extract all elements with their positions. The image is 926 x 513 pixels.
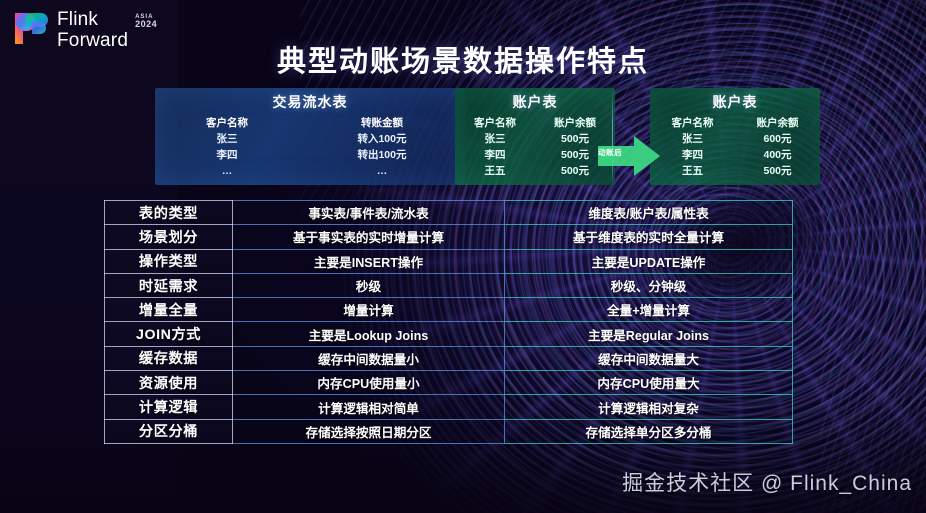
table-row: 操作类型 主要是INSERT操作 主要是UPDATE操作: [105, 249, 793, 273]
table-row: 分区分桶 存储选择按照日期分区 存储选择单分区多分桶: [105, 419, 793, 443]
row-left-value: 缓存中间数据量小: [233, 346, 505, 370]
row-label: 时延需求: [105, 273, 233, 297]
cell-customer: 张三: [650, 131, 735, 147]
table-row: 缓存数据 缓存中间数据量小 缓存中间数据量大: [105, 346, 793, 370]
cell-customer: 李四: [650, 147, 735, 163]
row-right-value: 计算逻辑相对复杂: [505, 395, 793, 419]
table-header-row: 客户名称 转账金额: [155, 115, 465, 131]
cell-amount: 转入100元: [299, 131, 465, 147]
table-row: 资源使用 内存CPU使用量小 内存CPU使用量大: [105, 371, 793, 395]
table-row: 场景划分 基于事实表的实时增量计算 基于维度表的实时全量计算: [105, 225, 793, 249]
column-header-customer: 客户名称: [650, 115, 735, 131]
row-left-value: 主要是Lookup Joins: [233, 322, 505, 346]
table-row: 李四 400元: [650, 147, 820, 163]
row-label: 表的类型: [105, 201, 233, 225]
cell-amount: 转出100元: [299, 147, 465, 163]
row-left-value: 内存CPU使用量小: [233, 371, 505, 395]
column-header-balance: 账户余额: [535, 115, 615, 131]
slide-canvas: Flink Forward ASIA 2024 典型动账场景数据操作特点 交易流…: [0, 0, 926, 513]
cell-balance: 600元: [735, 131, 820, 147]
cell-balance: 500元: [735, 163, 820, 179]
row-right-value: 主要是Regular Joins: [505, 322, 793, 346]
row-label: 计算逻辑: [105, 395, 233, 419]
row-label: 资源使用: [105, 371, 233, 395]
cell-balance: 400元: [735, 147, 820, 163]
transaction-flow-table-title: 交易流水表: [155, 92, 465, 112]
row-left-value: 计算逻辑相对简单: [233, 395, 505, 419]
row-left-value: 秒级: [233, 273, 505, 297]
account-table-after: 账户表 客户名称 账户余额 张三 600元 李四 400元: [650, 88, 820, 185]
table-row: 李四 500元: [455, 147, 615, 163]
table-row: … …: [155, 163, 465, 179]
table-header-row: 客户名称 账户余额: [650, 115, 820, 131]
column-header-customer: 客户名称: [455, 115, 535, 131]
top-tables-row: 交易流水表 客户名称 转账金额 张三 转入100元 李四 转出100元: [0, 88, 926, 188]
table-row: 王五 500元: [650, 163, 820, 179]
row-left-value: 存储选择按照日期分区: [233, 419, 505, 443]
row-right-value: 内存CPU使用量大: [505, 371, 793, 395]
row-left-value: 基于事实表的实时增量计算: [233, 225, 505, 249]
column-header-customer: 客户名称: [155, 115, 299, 131]
row-right-value: 缓存中间数据量大: [505, 346, 793, 370]
cell-customer: 李四: [455, 147, 535, 163]
table-row: 王五 500元: [455, 163, 615, 179]
cell-customer: 王五: [455, 163, 535, 179]
table-row: 时延需求 秒级 秒级、分钟级: [105, 273, 793, 297]
table-row: 增量全量 增量计算 全量+增量计算: [105, 298, 793, 322]
logo-word-flink: Flink: [57, 10, 128, 29]
account-table-before: 账户表 客户名称 账户余额 张三 500元 李四 500元: [455, 88, 615, 185]
logo-edition-year: 2024: [135, 20, 157, 29]
table-row: 张三 600元: [650, 131, 820, 147]
table-row: 张三 转入100元: [155, 131, 465, 147]
row-label: 场景划分: [105, 225, 233, 249]
table-row: 张三 500元: [455, 131, 615, 147]
row-right-value: 维度表/账户表/属性表: [505, 201, 793, 225]
row-right-value: 全量+增量计算: [505, 298, 793, 322]
cell-customer: 王五: [650, 163, 735, 179]
cell-customer: 张三: [455, 131, 535, 147]
table-row: 计算逻辑 计算逻辑相对简单 计算逻辑相对复杂: [105, 395, 793, 419]
watermark-text: 掘金技术社区 @ Flink_China: [622, 467, 912, 497]
slide-title: 典型动账场景数据操作特点: [0, 38, 926, 80]
row-label: 分区分桶: [105, 419, 233, 443]
cell-customer: 李四: [155, 147, 299, 163]
row-label: 增量全量: [105, 298, 233, 322]
row-right-value: 存储选择单分区多分桶: [505, 419, 793, 443]
transaction-flow-table: 交易流水表 客户名称 转账金额 张三 转入100元 李四 转出100元: [155, 88, 465, 185]
row-label: JOIN方式: [105, 322, 233, 346]
row-right-value: 秒级、分钟级: [505, 273, 793, 297]
cell-customer: 张三: [155, 131, 299, 147]
row-left-value: 主要是INSERT操作: [233, 249, 505, 273]
row-right-value: 基于维度表的实时全量计算: [505, 225, 793, 249]
table-header-row: 客户名称 账户余额: [455, 115, 615, 131]
account-table-after-title: 账户表: [650, 92, 820, 112]
row-left-value: 增量计算: [233, 298, 505, 322]
table-row: JOIN方式 主要是Lookup Joins 主要是Regular Joins: [105, 322, 793, 346]
column-header-amount: 转账金额: [299, 115, 465, 131]
table-row: 表的类型 事实表/事件表/流水表 维度表/账户表/属性表: [105, 201, 793, 225]
account-table-before-title: 账户表: [455, 92, 615, 112]
row-label: 缓存数据: [105, 346, 233, 370]
transition-arrow: 动账后: [596, 133, 662, 179]
comparison-table: 表的类型 事实表/事件表/流水表 维度表/账户表/属性表 场景划分 基于事实表的…: [104, 200, 792, 443]
cell-customer: …: [155, 163, 299, 179]
row-label: 操作类型: [105, 249, 233, 273]
row-left-value: 事实表/事件表/流水表: [233, 201, 505, 225]
cell-amount: …: [299, 163, 465, 179]
transition-arrow-label: 动账后: [598, 147, 622, 158]
column-header-balance: 账户余额: [735, 115, 820, 131]
table-row: 李四 转出100元: [155, 147, 465, 163]
comparison-table-body: 表的类型 事实表/事件表/流水表 维度表/账户表/属性表 场景划分 基于事实表的…: [105, 201, 793, 444]
row-right-value: 主要是UPDATE操作: [505, 249, 793, 273]
